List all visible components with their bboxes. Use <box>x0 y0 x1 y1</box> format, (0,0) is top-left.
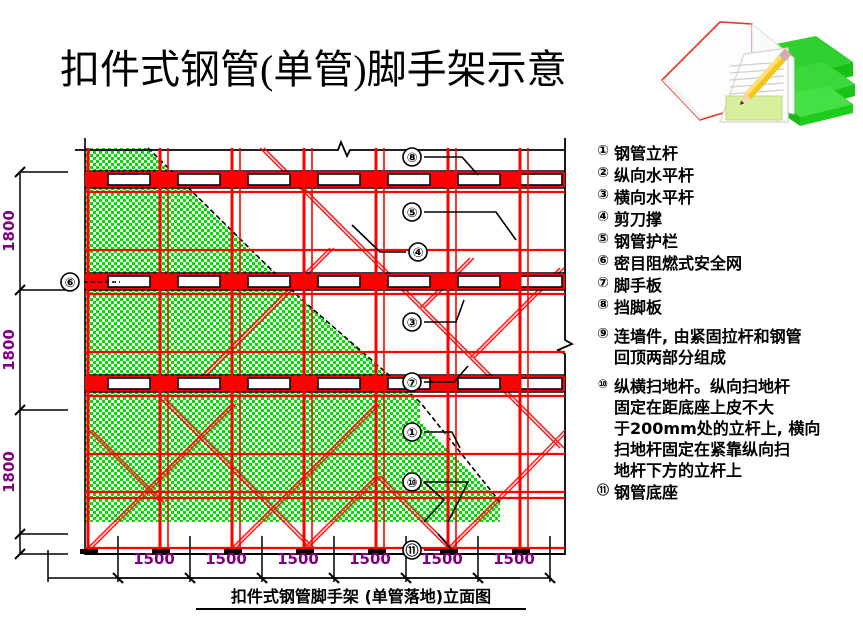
safety-net-mesh <box>85 148 505 525</box>
legend-number-7: ⑦ <box>592 275 614 292</box>
figure-caption: 扣件式钢管脚手架 (单管落地)立面图 <box>196 583 526 610</box>
legend-item-4: ④ 剪刀撑 <box>592 209 860 230</box>
legend-item-3: ③ 横向水平杆 <box>592 187 860 208</box>
svg-text:①: ① <box>406 426 417 441</box>
legend-spacer-2 <box>592 369 860 376</box>
legend-number-8: ⑧ <box>592 297 614 314</box>
legend-label-4: 剪刀撑 <box>614 209 662 230</box>
vertical-dim-1: 1800 <box>0 210 18 252</box>
svg-text:⑦: ⑦ <box>406 376 417 391</box>
svg-text:⑪: ⑪ <box>405 543 418 559</box>
legend-item-5: ⑤ 钢管护栏 <box>592 231 860 252</box>
legend-label-8: 挡脚板 <box>614 297 662 318</box>
legend-label-10: 纵横扫地杆。纵向扫地杆 固定在距底座上皮不大 于200mm处的立杆上, 横向 扫… <box>614 376 820 481</box>
legend-number-3: ③ <box>592 187 614 204</box>
legend-label-2: 纵向水平杆 <box>614 165 694 186</box>
legend-list: ① 钢管立杆 ② 纵向水平杆 ③ 横向水平杆 ④ 剪刀撑 ⑤ 钢管护栏 ⑥ 密目… <box>592 143 860 638</box>
callout-4: ④ <box>409 243 427 261</box>
callout-7: ⑦ <box>403 373 421 391</box>
horiz-dim-5: 1500 <box>421 550 463 568</box>
horiz-dim-3: 1500 <box>277 550 319 568</box>
callout-10: ⑩ <box>403 473 421 491</box>
horiz-dim-6: 1500 <box>493 550 535 568</box>
legend-label-5: 钢管护栏 <box>614 231 678 252</box>
vertical-dim-2: 1800 <box>0 329 18 371</box>
legend-item-9: ⑨ 连墙件, 由紧固拉杆和钢管 回顶两部分组成 <box>592 326 860 368</box>
legend-item-10: ⑩ 纵横扫地杆。纵向扫地杆 固定在距底座上皮不大 于200mm处的立杆上, 横向… <box>592 376 860 481</box>
svg-text:④: ④ <box>412 246 423 261</box>
legend-spacer <box>592 319 860 326</box>
horiz-dim-1: 1500 <box>133 550 175 568</box>
callout-5: ⑤ <box>403 203 421 221</box>
page-title: 扣件式钢管(单管)脚手架示意 <box>60 40 640 100</box>
legend-item-8: ⑧ 挡脚板 <box>592 297 860 318</box>
legend-number-10: ⑩ <box>592 376 614 393</box>
callout-1: ① <box>403 423 421 441</box>
svg-text:⑩: ⑩ <box>406 476 417 491</box>
legend-number-9: ⑨ <box>592 326 614 343</box>
legend-label-3: 横向水平杆 <box>614 187 694 208</box>
legend-item-6: ⑥ 密目阻燃式安全网 <box>592 253 860 274</box>
horiz-dim-2: 1500 <box>205 550 247 568</box>
legend-number-6: ⑥ <box>592 253 614 270</box>
legend-number-2: ② <box>592 165 614 182</box>
legend-number-4: ④ <box>592 209 614 226</box>
legend-label-7: 脚手板 <box>614 275 662 296</box>
legend-item-7: ⑦ 脚手板 <box>592 275 860 296</box>
legend-number-5: ⑤ <box>592 231 614 248</box>
legend-item-1: ① 钢管立杆 <box>592 143 860 164</box>
vertical-dim-3: 1800 <box>0 451 18 493</box>
horiz-dim-4: 1500 <box>349 550 391 568</box>
legend-item-2: ② 纵向水平杆 <box>592 165 860 186</box>
svg-text:⑧: ⑧ <box>406 151 417 166</box>
callout-11: ⑪ <box>403 541 421 559</box>
legend-label-9: 连墙件, 由紧固拉杆和钢管 回顶两部分组成 <box>614 326 802 368</box>
legend-label-1: 钢管立杆 <box>614 143 678 164</box>
open-book-with-pencil-icon <box>648 18 858 130</box>
svg-text:⑥: ⑥ <box>64 276 75 291</box>
svg-text:⑤: ⑤ <box>406 206 417 221</box>
callout-8: ⑧ <box>403 148 421 166</box>
vertical-dimension-chain <box>15 167 68 559</box>
legend-number-1: ① <box>592 143 614 160</box>
callout-6: ⑥ <box>61 273 79 291</box>
svg-text:③: ③ <box>406 316 417 331</box>
scaffold-elevation-drawing: 1800 1800 1800 1500 1500 1500 <box>0 130 600 630</box>
legend-label-6: 密目阻燃式安全网 <box>614 253 742 274</box>
legend-label-11: 钢管底座 <box>614 482 678 503</box>
vertical-dimension-labels: 1800 1800 1800 <box>0 210 18 493</box>
legend-item-11: ⑪ 钢管底座 <box>592 482 860 503</box>
callout-3: ③ <box>403 313 421 331</box>
legend-number-11: ⑪ <box>592 482 614 499</box>
